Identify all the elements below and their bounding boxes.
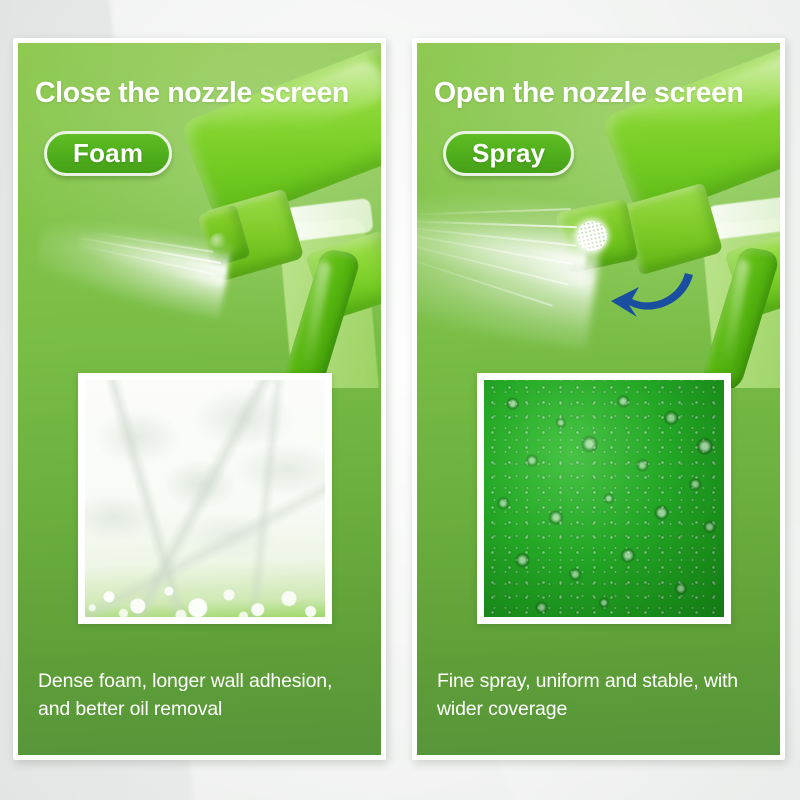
spray-mode-badge[interactable]: Spray: [443, 131, 574, 176]
spray-streak-2: [417, 225, 577, 246]
infographic-canvas: Close the nozzle screen Foam Dense foam,…: [0, 0, 800, 800]
foam-panel-caption: Dense foam, longer wall adhesion, and be…: [38, 668, 368, 723]
rotate-nozzle-arrow-icon: [607, 261, 702, 323]
foam-photo-inset[interactable]: [78, 373, 332, 624]
spray-panel-headline: Open the nozzle screen: [434, 79, 774, 109]
spray-panel-body: Open the nozzle screen Spray Fine spray,…: [417, 43, 780, 755]
foam-panel-headline: Close the nozzle screen: [35, 79, 375, 109]
spray-panel-card[interactable]: Open the nozzle screen Spray Fine spray,…: [412, 38, 785, 760]
spray-panel-caption: Fine spray, uniform and stable, with wid…: [437, 668, 767, 723]
foam-photo: [85, 380, 325, 617]
foam-panel-card[interactable]: Close the nozzle screen Foam Dense foam,…: [13, 38, 386, 760]
spray-streak-1: [417, 220, 577, 228]
spray-photo-inset[interactable]: [477, 373, 731, 624]
foam-panel-body: Close the nozzle screen Foam Dense foam,…: [18, 43, 381, 755]
foam-mode-badge[interactable]: Foam: [44, 131, 172, 176]
foam-photo-bubbles: [85, 525, 325, 617]
spray-streak-4: [417, 238, 568, 285]
spray-streak-3: [417, 231, 574, 265]
spray-streak-5: [417, 249, 553, 307]
water-droplets-photo: [484, 380, 724, 617]
foam-jet-streak-2: [81, 245, 214, 275]
spray-streak-6: [417, 208, 571, 216]
droplets-shading: [484, 380, 724, 617]
foam-jet-streak-1: [73, 236, 221, 264]
foam-jet-streak-3: [89, 231, 214, 253]
